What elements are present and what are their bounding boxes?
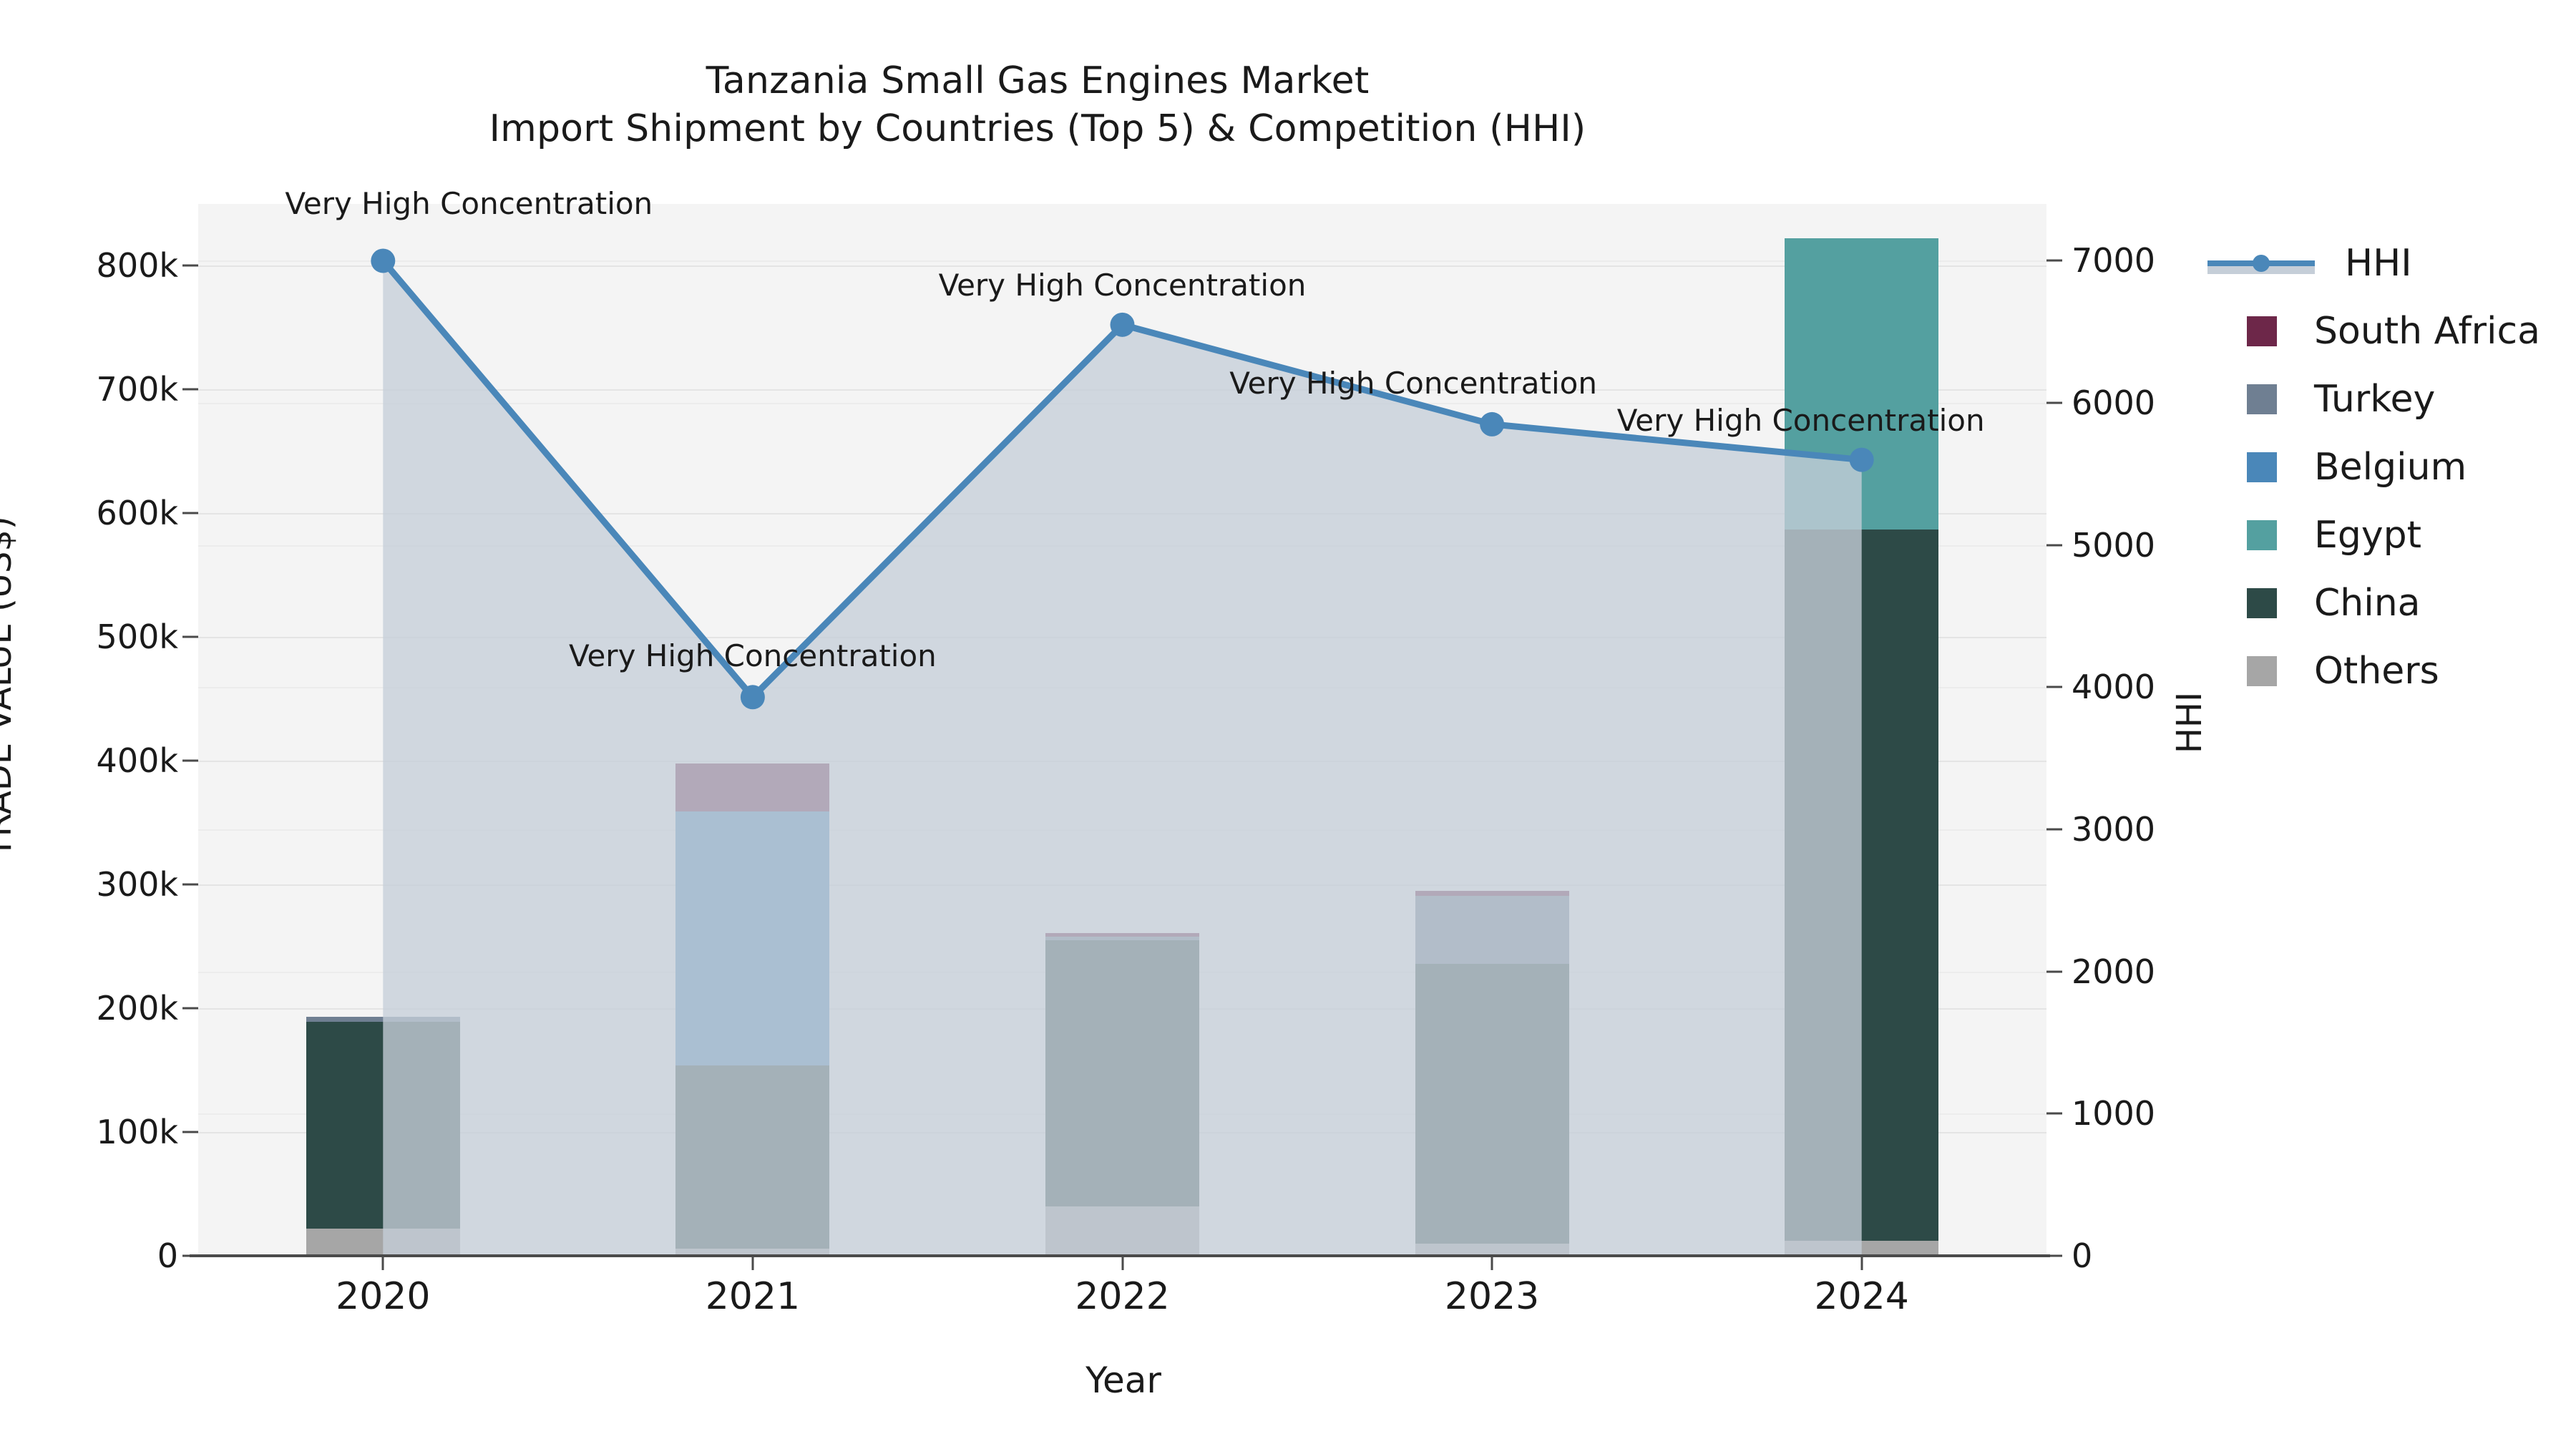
y-axis-left-label: TRADE VALUE (US$) — [0, 516, 19, 857]
legend-swatch-icon — [2247, 452, 2277, 482]
bar-segment-egypt[interactable] — [1785, 238, 1938, 529]
bar-group-2020[interactable] — [306, 1017, 460, 1256]
y-tick-left-800k: 800k — [21, 246, 178, 285]
y-tick-mark-right — [2046, 260, 2062, 262]
y-tick-left-200k: 200k — [21, 989, 178, 1028]
x-tick-mark — [1491, 1256, 1493, 1270]
legend-item-turkey[interactable]: Turkey — [2207, 365, 2565, 433]
chart-figure: Tanzania Small Gas Engines Market Import… — [0, 0, 2576, 1449]
y-tick-mark-left — [182, 884, 198, 886]
x-tick-mark — [1860, 1256, 1863, 1270]
y-tick-left-700k: 700k — [21, 370, 178, 409]
legend-label: Egypt — [2314, 514, 2421, 557]
bar-group-2021[interactable] — [675, 763, 829, 1256]
x-axis-baseline — [190, 1254, 2050, 1257]
legend-item-belgium[interactable]: Belgium — [2207, 433, 2565, 501]
hhi-marker-2022[interactable] — [1111, 313, 1135, 337]
bar-segment-south-africa[interactable] — [1415, 891, 1569, 896]
y-tick-left-0: 0 — [21, 1236, 178, 1275]
bar-segment-turkey[interactable] — [1045, 937, 1199, 940]
hhi-marker-2023[interactable] — [1480, 412, 1504, 436]
y-tick-mark-left — [182, 512, 198, 514]
bar-segment-others[interactable] — [306, 1229, 460, 1256]
gridline-right — [198, 687, 2046, 688]
y-tick-mark-right — [2046, 970, 2062, 972]
chart-title-line-1: Tanzania Small Gas Engines Market — [0, 57, 2075, 105]
y-tick-left-600k: 600k — [21, 494, 178, 532]
gridline-right — [198, 545, 2046, 547]
bar-segment-turkey[interactable] — [306, 1017, 460, 1022]
legend-label: China — [2314, 582, 2421, 625]
y-tick-right-1000: 1000 — [2072, 1094, 2258, 1133]
legend-swatch-icon — [2247, 384, 2277, 414]
annotation-2022: Very High Concentration — [939, 268, 1307, 303]
y-tick-left-500k: 500k — [21, 618, 178, 656]
bar-group-2022[interactable] — [1045, 933, 1199, 1256]
y-tick-mark-left — [182, 636, 198, 638]
bar-group-2024[interactable] — [1785, 238, 1938, 1256]
legend-label: Belgium — [2314, 446, 2467, 489]
y-tick-mark-left — [182, 389, 198, 391]
bar-segment-china[interactable] — [1415, 964, 1569, 1244]
gridline-left — [198, 389, 2046, 391]
chart-title: Tanzania Small Gas Engines Market Import… — [0, 57, 2075, 152]
bar-segment-south-africa[interactable] — [675, 763, 829, 811]
gridline-left — [198, 513, 2046, 514]
x-tick-2023: 2023 — [1445, 1275, 1539, 1318]
y-tick-mark-right — [2046, 686, 2062, 688]
chart-title-line-2: Import Shipment by Countries (Top 5) & C… — [0, 105, 2075, 153]
x-tick-mark — [751, 1256, 753, 1270]
legend-label: Others — [2314, 650, 2439, 693]
y-tick-mark-left — [182, 1131, 198, 1133]
bar-segment-south-africa[interactable] — [1045, 933, 1199, 937]
y-tick-mark-right — [2046, 544, 2062, 546]
legend-label: South Africa — [2314, 310, 2540, 353]
x-axis-label: Year — [1085, 1360, 1161, 1401]
legend-label: Turkey — [2314, 378, 2435, 421]
annotation-2021: Very High Concentration — [569, 638, 937, 673]
annotation-2020: Very High Concentration — [285, 186, 653, 221]
gridline-left — [198, 761, 2046, 762]
bar-segment-china[interactable] — [1045, 940, 1199, 1206]
legend-item-egypt[interactable]: Egypt — [2207, 501, 2565, 569]
bar-segment-china[interactable] — [675, 1065, 829, 1249]
x-tick-2021: 2021 — [706, 1275, 800, 1318]
x-tick-2024: 2024 — [1815, 1275, 1909, 1318]
legend-item-hhi[interactable]: HHI — [2207, 229, 2565, 297]
y-tick-mark-left — [182, 1255, 198, 1257]
y-tick-mark-left — [182, 1008, 198, 1010]
bar-group-2023[interactable] — [1415, 891, 1569, 1256]
legend-swatch-icon — [2247, 316, 2277, 346]
gridline-right — [198, 260, 2046, 262]
y-tick-mark-right — [2046, 1255, 2062, 1257]
bar-segment-others[interactable] — [1785, 1241, 1938, 1256]
legend-swatch-icon — [2247, 588, 2277, 618]
hhi-line — [383, 260, 1861, 697]
y-tick-mark-right — [2046, 1113, 2062, 1115]
bar-segment-china[interactable] — [1785, 530, 1938, 1241]
bar-segment-others[interactable] — [1045, 1206, 1199, 1256]
legend: HHISouth AfricaTurkeyBelgiumEgyptChinaOt… — [2207, 229, 2565, 705]
legend-item-others[interactable]: Others — [2207, 637, 2565, 705]
annotation-2024: Very High Concentration — [1617, 403, 1985, 438]
y-tick-mark-right — [2046, 402, 2062, 404]
x-tick-mark — [382, 1256, 384, 1270]
legend-line-marker-icon — [2207, 248, 2315, 278]
hhi-marker-2021[interactable] — [741, 685, 765, 709]
x-tick-mark — [1121, 1256, 1123, 1270]
x-tick-2020: 2020 — [336, 1275, 430, 1318]
legend-swatch-icon — [2247, 656, 2277, 686]
y-tick-left-300k: 300k — [21, 865, 178, 904]
legend-item-south-africa[interactable]: South Africa — [2207, 297, 2565, 365]
y-tick-right-2000: 2000 — [2072, 952, 2258, 991]
bar-segment-china[interactable] — [306, 1022, 460, 1229]
y-tick-right-3000: 3000 — [2072, 810, 2258, 849]
gridline-left — [198, 884, 2046, 886]
y-axis-right-label: HHI — [2170, 692, 2210, 753]
y-tick-right-0: 0 — [2072, 1236, 2258, 1275]
y-tick-mark-left — [182, 760, 198, 762]
y-tick-mark-right — [2046, 829, 2062, 831]
bar-segment-turkey[interactable] — [1415, 896, 1569, 964]
y-tick-left-100k: 100k — [21, 1113, 178, 1151]
gridline-right — [198, 829, 2046, 831]
y-tick-mark-left — [182, 265, 198, 267]
y-tick-left-400k: 400k — [21, 741, 178, 780]
legend-dot — [2253, 255, 2270, 272]
annotation-2023: Very High Concentration — [1229, 366, 1597, 401]
legend-swatch-icon — [2247, 520, 2277, 550]
legend-item-china[interactable]: China — [2207, 569, 2565, 637]
plot-area — [198, 204, 2046, 1256]
legend-label: HHI — [2345, 242, 2412, 285]
gridline-left — [198, 637, 2046, 638]
x-tick-2022: 2022 — [1075, 1275, 1169, 1318]
bar-segment-belgium[interactable] — [675, 811, 829, 1065]
